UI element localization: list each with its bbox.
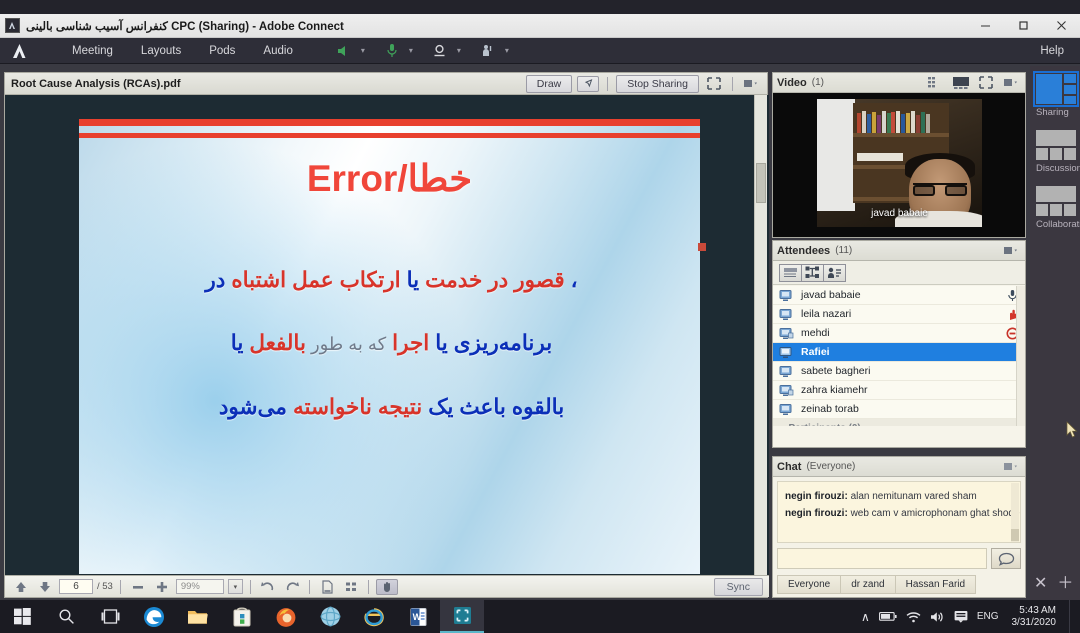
layout-thumb-sharing	[1036, 74, 1076, 104]
slide-line-3: بالقوه باعث یک نتیجه ناخواسته می‌شود	[99, 376, 684, 439]
task-view-button[interactable]	[88, 600, 132, 633]
raise-hand-icon[interactable]	[477, 41, 499, 61]
chat-message: negin firouzi: web cam v amicrophonam gh…	[785, 505, 1013, 522]
host-icon	[779, 308, 794, 321]
chat-tab-dr-zand[interactable]: dr zand	[840, 575, 894, 594]
chat-bubble-icon[interactable]	[991, 548, 1021, 569]
pod-menu-icon[interactable]	[1001, 243, 1021, 259]
attendees-pod-controls	[1001, 243, 1021, 259]
window-title: کنفرانس آسیب شناسی بالینی CPC (Sharing) …	[26, 19, 344, 33]
slide-line-1: ، قصور در خدمت یا ارتکاب عمل اشتباه در	[99, 249, 684, 312]
attendee-name: leila nazari	[801, 308, 851, 320]
add-layout-icon[interactable]: ＋	[1057, 576, 1073, 592]
layout-label-sharing: Sharing	[1036, 107, 1080, 118]
chevron-up-icon[interactable]: ∧	[861, 610, 870, 624]
slide-scrollbar[interactable]	[754, 95, 767, 577]
layout-label-collaboration: Collaboration	[1036, 219, 1080, 230]
participant-glasses	[913, 183, 967, 194]
raise-hand-control[interactable]: ▾	[477, 41, 515, 61]
fit-page-icon[interactable]	[317, 579, 337, 595]
chat-pod-title: Chat	[777, 461, 801, 473]
slide-accent-bar-second	[79, 133, 700, 138]
close-button[interactable]	[1042, 14, 1080, 37]
start-button[interactable]	[0, 600, 44, 633]
attendee-name: javad babaie	[801, 289, 861, 301]
attendees-group-label: Participants (0)	[789, 423, 861, 426]
video-pod-count: (1)	[812, 77, 824, 88]
app-button[interactable]	[308, 600, 352, 633]
chat-message-sender: negin firouzi:	[785, 491, 848, 502]
attendees-view-toolbar	[773, 261, 1025, 285]
attendee-row-rafiei[interactable]: Rafiei	[773, 343, 1025, 362]
attendee-name: sabete bagheri	[801, 365, 870, 377]
host-icon	[779, 327, 794, 340]
layout-item-discussion[interactable]: Discussion	[1030, 122, 1080, 178]
speaker-icon[interactable]	[333, 41, 355, 61]
attendee-row-sabete-bagheri[interactable]: sabete bagheri	[773, 362, 1025, 381]
attendee-row-javad-babaie[interactable]: javad babaie	[773, 286, 1025, 305]
list-view-icon[interactable]	[779, 264, 802, 282]
windows-taskbar: W ∧	[0, 600, 1080, 633]
volume-icon[interactable]	[930, 611, 945, 623]
close-icon[interactable]: ✕	[1034, 576, 1047, 592]
store-button[interactable]	[220, 600, 264, 633]
layout-thumb-collaboration	[1036, 186, 1076, 216]
file-explorer-button[interactable]	[176, 600, 220, 633]
chat-pod: Chat (Everyone) negin firouzi: alan nemi…	[772, 456, 1026, 598]
presentation-slide: خطا/Error ، قصور در خدمت یا ارتکاب عمل ا…	[79, 119, 700, 574]
layout-item-sharing[interactable]: Sharing	[1030, 66, 1080, 122]
undo-icon[interactable]	[258, 579, 278, 595]
host-icon	[779, 289, 794, 302]
video-pod-controls	[926, 75, 1021, 91]
grid-layout-icon[interactable]	[926, 75, 946, 91]
layout-label-discussion: Discussion	[1036, 163, 1080, 174]
menu-help[interactable]: Help	[1024, 42, 1080, 60]
bookshelf-board-1	[853, 133, 949, 137]
host-icon	[779, 365, 794, 378]
shelf-papers	[857, 153, 903, 161]
system-tray: ∧	[861, 600, 1080, 633]
video-pod: Video (1)	[772, 72, 1026, 238]
fullscreen-icon[interactable]	[976, 75, 996, 91]
attendee-row-zeinab-torab[interactable]: zeinab torab	[773, 400, 1025, 419]
page-total-label: / 53	[97, 581, 113, 592]
webcam-feed[interactable]: javad babaie	[817, 99, 982, 227]
toolbar-divider-2	[732, 77, 733, 91]
pointer-icon[interactable]	[577, 76, 599, 92]
adobe-logo-icon	[10, 41, 32, 61]
mouse-cursor	[1066, 421, 1078, 444]
attendees-list[interactable]: javad babaie leila nazari	[773, 286, 1025, 426]
chat-input[interactable]	[777, 548, 987, 569]
slide-title: خطا/Error	[79, 157, 700, 200]
glasses-left-lens	[913, 185, 935, 196]
attendee-row-mehdi[interactable]: mehdi	[773, 324, 1025, 343]
stop-sharing-button[interactable]: Stop Sharing	[616, 75, 699, 93]
layout-item-collaboration[interactable]: Collaboration	[1030, 178, 1080, 234]
attendee-row-zahra-kiamehr[interactable]: zahra kiamehr	[773, 381, 1025, 400]
menu-pods[interactable]: Pods	[195, 42, 249, 60]
attendees-scrollbar[interactable]	[1016, 286, 1025, 426]
chevron-right-icon[interactable]: ▸	[779, 425, 783, 427]
window-controls	[966, 14, 1080, 37]
page-number-input[interactable]: 6	[59, 579, 93, 594]
attendee-name: Rafiei	[801, 346, 830, 358]
edge-button[interactable]	[132, 600, 176, 633]
pdf-divider-3	[309, 580, 310, 594]
speaker-control[interactable]: ▾	[333, 41, 371, 61]
arrow-down-icon[interactable]	[35, 579, 55, 595]
redo-icon[interactable]	[282, 579, 302, 595]
chat-message-sender: negin firouzi:	[785, 508, 848, 519]
screen: کنفرانس آسیب شناسی بالینی CPC (Sharing) …	[0, 0, 1080, 633]
search-button[interactable]	[44, 600, 88, 633]
webcam-icon[interactable]	[429, 41, 451, 61]
chat-tab-everyone[interactable]: Everyone	[777, 575, 840, 594]
video-participant-name: javad babaie	[817, 208, 982, 219]
attendees-group-participants[interactable]: ▸ Participants (0)	[773, 419, 1025, 426]
video-stage[interactable]: javad babaie	[773, 93, 1025, 237]
books-row-2	[891, 111, 930, 133]
pod-menu-icon[interactable]	[1001, 459, 1021, 475]
books-row-1	[857, 111, 891, 133]
slide-scrollbar-thumb[interactable]	[756, 163, 766, 203]
raise-hand-caret-icon[interactable]: ▾	[499, 46, 515, 55]
video-pod-title: Video	[777, 77, 807, 89]
taskbar-clock[interactable]: 5:43 AM 3/31/2020	[1008, 605, 1057, 629]
chat-log-scrollbar[interactable]	[1011, 483, 1019, 543]
application-menubar: Meeting Layouts Pods Audio ▾ ▾	[0, 38, 1080, 64]
chat-log-scrollbar-thumb[interactable]	[1011, 529, 1019, 541]
firefox-button[interactable]	[264, 600, 308, 633]
svg-text:W: W	[412, 612, 421, 622]
webcam-wall	[817, 99, 855, 211]
adobe-connect-button[interactable]	[440, 600, 484, 633]
microphone-caret-icon[interactable]: ▾	[403, 46, 419, 55]
show-desktop-button[interactable]	[1069, 600, 1074, 633]
glasses-right-lens	[945, 185, 967, 196]
share-pod-tools: Draw Stop Sharing	[526, 75, 761, 93]
chat-message: negin firouzi: alan nemitunam vared sham	[785, 488, 1013, 505]
window-titlebar: کنفرانس آسیب شناسی بالینی CPC (Sharing) …	[0, 14, 1080, 38]
input-language-indicator[interactable]: ENG	[977, 611, 999, 622]
battery-icon[interactable]	[879, 611, 897, 622]
sync-button[interactable]: Sync	[714, 578, 763, 596]
word-button[interactable]: W	[396, 600, 440, 633]
clock-time: 5:43 AM	[1012, 605, 1057, 617]
attendee-row-leila-nazari[interactable]: leila nazari	[773, 305, 1025, 324]
pdf-divider-2	[250, 580, 251, 594]
fullscreen-icon[interactable]	[704, 76, 724, 92]
microphone-icon[interactable]	[381, 41, 403, 61]
attendee-name: mehdi	[801, 327, 830, 339]
attendee-name: zeinab torab	[801, 403, 859, 415]
speaker-caret-icon[interactable]: ▾	[355, 46, 371, 55]
attendees-pod-header: Attendees (11)	[773, 241, 1025, 261]
microphone-control[interactable]: ▾	[381, 41, 419, 61]
chat-input-row	[777, 548, 1021, 569]
menu-audio[interactable]: Audio	[249, 42, 306, 60]
attendees-count: (11)	[835, 245, 852, 256]
chat-pod-scope: (Everyone)	[806, 461, 855, 472]
filmstrip-layout-icon[interactable]	[951, 75, 971, 91]
keyboard-icon[interactable]	[954, 610, 968, 623]
fit-width-icon[interactable]	[341, 579, 361, 595]
zoom-level-value[interactable]: 99%	[176, 579, 224, 594]
chat-message-text: web cam v amicrophonam ghat shode	[851, 508, 1020, 519]
host-icon	[779, 403, 794, 416]
menubar-icon-group: ▾ ▾ ▾	[333, 41, 525, 61]
slide-line-2: برنامه‌ریزی یا اجرا که به طور بالفعل یا	[99, 312, 684, 376]
slide-accent-bar-top	[79, 119, 700, 126]
pdf-navigation-toolbar: 6 / 53 99% ▾	[5, 575, 769, 597]
chevron-down-icon[interactable]: ▾	[228, 579, 243, 594]
pod-menu-icon[interactable]	[741, 76, 761, 92]
minus-icon[interactable]	[128, 579, 148, 595]
chat-tab-hassan-farid[interactable]: Hassan Farid	[895, 575, 976, 594]
layout-rail-actions: ✕ ＋	[1034, 576, 1073, 592]
plus-icon[interactable]	[152, 579, 172, 595]
status-view-icon[interactable]	[823, 264, 846, 282]
minimize-button[interactable]	[966, 14, 1004, 37]
chat-tab-bar: Everyone dr zand Hassan Farid	[777, 575, 976, 594]
chat-message-text: alan nemitunam vared sham	[851, 491, 977, 502]
screen-bezel	[0, 0, 1080, 14]
toolbar-divider	[607, 77, 608, 91]
chat-pod-header: Chat (Everyone)	[773, 457, 1025, 477]
pdf-divider-4	[368, 580, 369, 594]
adobe-connect-icon	[5, 18, 20, 33]
internet-explorer-button[interactable]	[352, 600, 396, 633]
attendees-pod: Attendees (11)	[772, 240, 1026, 448]
arrow-up-icon[interactable]	[11, 579, 31, 595]
breakout-view-icon[interactable]	[801, 264, 824, 282]
video-pod-header: Video (1)	[773, 73, 1025, 93]
chat-pod-controls	[1001, 459, 1021, 475]
slide-body-text: ، قصور در خدمت یا ارتکاب عمل اشتباه در ب…	[99, 249, 684, 439]
webcam-control[interactable]: ▾	[429, 41, 467, 61]
layout-thumb-discussion	[1036, 130, 1076, 160]
shared-file-name: Root Cause Analysis (RCAs).pdf	[11, 78, 181, 90]
webcam-caret-icon[interactable]: ▾	[451, 46, 467, 55]
wifi-icon[interactable]	[906, 611, 921, 623]
layout-rail: Sharing Discussion Collaboration ✕ ＋	[1030, 66, 1080, 600]
share-pod-toolbar: Root Cause Analysis (RCAs).pdf Draw Stop…	[5, 73, 767, 95]
hand-pan-icon[interactable]	[376, 579, 398, 595]
menu-meeting[interactable]: Meeting	[58, 42, 127, 60]
chat-message-log[interactable]: negin firouzi: alan nemitunam vared sham…	[777, 481, 1021, 543]
maximize-button[interactable]	[1004, 14, 1042, 37]
clock-date: 3/31/2020	[1012, 617, 1057, 629]
slide-viewport[interactable]: خطا/Error ، قصور در خدمت یا ارتکاب عمل ا…	[5, 95, 769, 577]
draw-button[interactable]: Draw	[526, 75, 573, 93]
host-icon	[779, 346, 794, 359]
pdf-divider-1	[120, 580, 121, 594]
share-pod: Root Cause Analysis (RCAs).pdf Draw Stop…	[4, 72, 768, 598]
menu-layouts[interactable]: Layouts	[127, 42, 195, 60]
pod-menu-icon[interactable]	[1001, 75, 1021, 91]
attendees-pod-title: Attendees	[777, 245, 830, 257]
host-icon	[779, 384, 794, 397]
slide-edge-marker	[698, 243, 706, 251]
attendee-name: zahra kiamehr	[801, 384, 868, 396]
